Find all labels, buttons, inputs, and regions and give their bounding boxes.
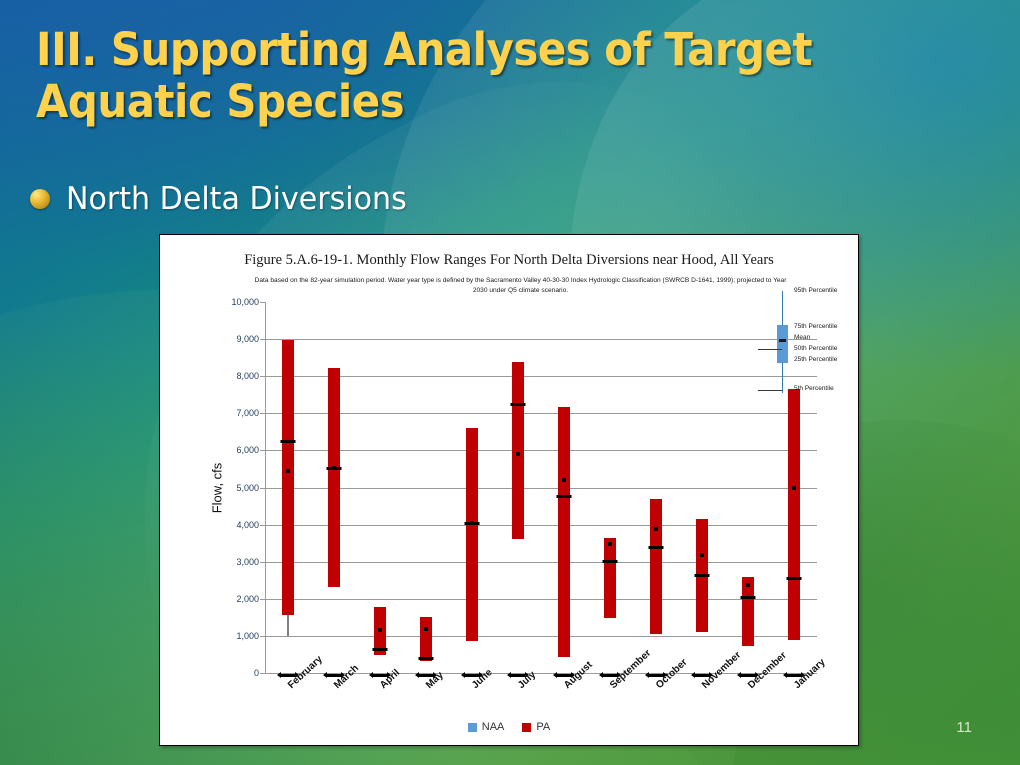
legend-swatch-icon xyxy=(522,723,531,732)
month-column[interactable]: September xyxy=(587,302,633,673)
mean-marker xyxy=(654,527,658,531)
range-bar[interactable] xyxy=(328,368,340,587)
mean-marker xyxy=(562,478,566,482)
percentile-label-50: 50th Percentile xyxy=(794,345,837,352)
chart-panel: Figure 5.A.6-19-1. Monthly Flow Ranges F… xyxy=(159,234,859,746)
median-marker xyxy=(649,546,664,549)
slide-canvas: III. Supporting Analyses of Target Aquat… xyxy=(0,0,1020,765)
range-bar[interactable] xyxy=(788,389,800,640)
y-tick-label: 8,000 xyxy=(236,371,259,381)
page-number: 11 xyxy=(956,719,972,736)
legend-label: NAA xyxy=(482,721,505,733)
mean-marker xyxy=(792,486,796,490)
month-column[interactable]: October xyxy=(633,302,679,673)
percentile-mean-marker xyxy=(779,339,786,342)
mean-marker xyxy=(470,521,474,525)
legend-label: PA xyxy=(536,721,550,733)
y-tick-label: 7,000 xyxy=(236,408,259,418)
range-bar[interactable] xyxy=(558,407,570,658)
y-tick-label: 3,000 xyxy=(236,557,259,567)
legend-swatch-icon xyxy=(468,723,477,732)
range-bar[interactable] xyxy=(466,428,478,641)
x-tick-label: June xyxy=(470,667,495,691)
percentile-key: 95th Percentile 75th Percentile Mean 50t… xyxy=(776,287,860,397)
month-column[interactable]: March xyxy=(311,302,357,673)
median-marker xyxy=(419,657,434,660)
plot: Flow, cfs 01,0002,0003,0004,0005,0006,00… xyxy=(219,302,817,673)
median-marker xyxy=(695,574,710,577)
percentile-label-mean: Mean xyxy=(794,334,810,341)
legend-item[interactable]: NAA xyxy=(468,721,505,733)
median-marker xyxy=(281,440,296,443)
percentile-label-95: 95th Percentile xyxy=(794,287,837,294)
percentile-leader-50 xyxy=(758,349,782,350)
legend-item[interactable]: PA xyxy=(522,721,550,733)
y-tick-label: 6,000 xyxy=(236,445,259,455)
series-legend: NAAPA xyxy=(160,721,858,733)
plot-area: 01,0002,0003,0004,0005,0006,0007,0008,00… xyxy=(265,302,817,673)
mean-marker xyxy=(424,627,428,631)
month-column[interactable]: May xyxy=(403,302,449,673)
mean-marker xyxy=(332,466,336,470)
range-bar[interactable] xyxy=(282,340,294,615)
median-marker xyxy=(787,577,802,580)
range-bar[interactable] xyxy=(604,538,616,618)
percentile-label-75: 75th Percentile xyxy=(794,323,837,330)
percentile-label-5: 5th Percentile xyxy=(794,385,834,392)
month-column[interactable]: November xyxy=(679,302,725,673)
percentile-label-25: 25th Percentile xyxy=(794,356,837,363)
gold-sphere-bullet-icon xyxy=(30,189,50,209)
x-tick-label: July xyxy=(516,669,538,691)
mean-marker xyxy=(286,469,290,473)
bullet-row: North Delta Diversions xyxy=(30,182,417,216)
x-tick-label: May xyxy=(424,670,446,691)
mean-marker xyxy=(746,583,750,587)
slide-title: III. Supporting Analyses of Target Aquat… xyxy=(36,24,929,128)
median-marker xyxy=(511,403,526,406)
mean-marker xyxy=(700,553,704,557)
range-bar[interactable] xyxy=(512,362,524,539)
range-bar[interactable] xyxy=(650,499,662,634)
month-column[interactable]: June xyxy=(449,302,495,673)
percentile-leader-5 xyxy=(758,390,782,391)
median-marker xyxy=(603,560,618,563)
mean-marker xyxy=(516,452,520,456)
y-tick-label: 9,000 xyxy=(236,334,259,344)
month-column[interactable]: April xyxy=(357,302,403,673)
median-marker xyxy=(557,495,572,498)
bullet-text: North Delta Diversions xyxy=(66,182,407,216)
range-bar[interactable] xyxy=(420,617,432,660)
y-tick-label: 5,000 xyxy=(236,483,259,493)
y-tick-label: 0 xyxy=(254,668,259,678)
y-tick-label: 10,000 xyxy=(231,297,259,307)
month-column[interactable]: July xyxy=(495,302,541,673)
chart-title: Figure 5.A.6-19-1. Monthly Flow Ranges F… xyxy=(160,252,858,269)
y-tick-label: 1,000 xyxy=(236,631,259,641)
month-column[interactable]: August xyxy=(541,302,587,673)
median-marker xyxy=(741,596,756,599)
y-tick-label: 2,000 xyxy=(236,594,259,604)
y-tick-label: 4,000 xyxy=(236,520,259,530)
percentile-box xyxy=(777,325,788,363)
mean-marker xyxy=(608,542,612,546)
y-tick-mark xyxy=(260,673,265,674)
mean-marker xyxy=(378,628,382,632)
month-column[interactable]: February xyxy=(265,302,311,673)
median-marker xyxy=(373,648,388,651)
month-column[interactable]: December xyxy=(725,302,771,673)
x-tick-label: April xyxy=(378,667,402,691)
chart-subtitle: Data based on the 82-year simulation per… xyxy=(248,276,793,296)
y-axis-label: Flow, cfs xyxy=(210,462,225,513)
